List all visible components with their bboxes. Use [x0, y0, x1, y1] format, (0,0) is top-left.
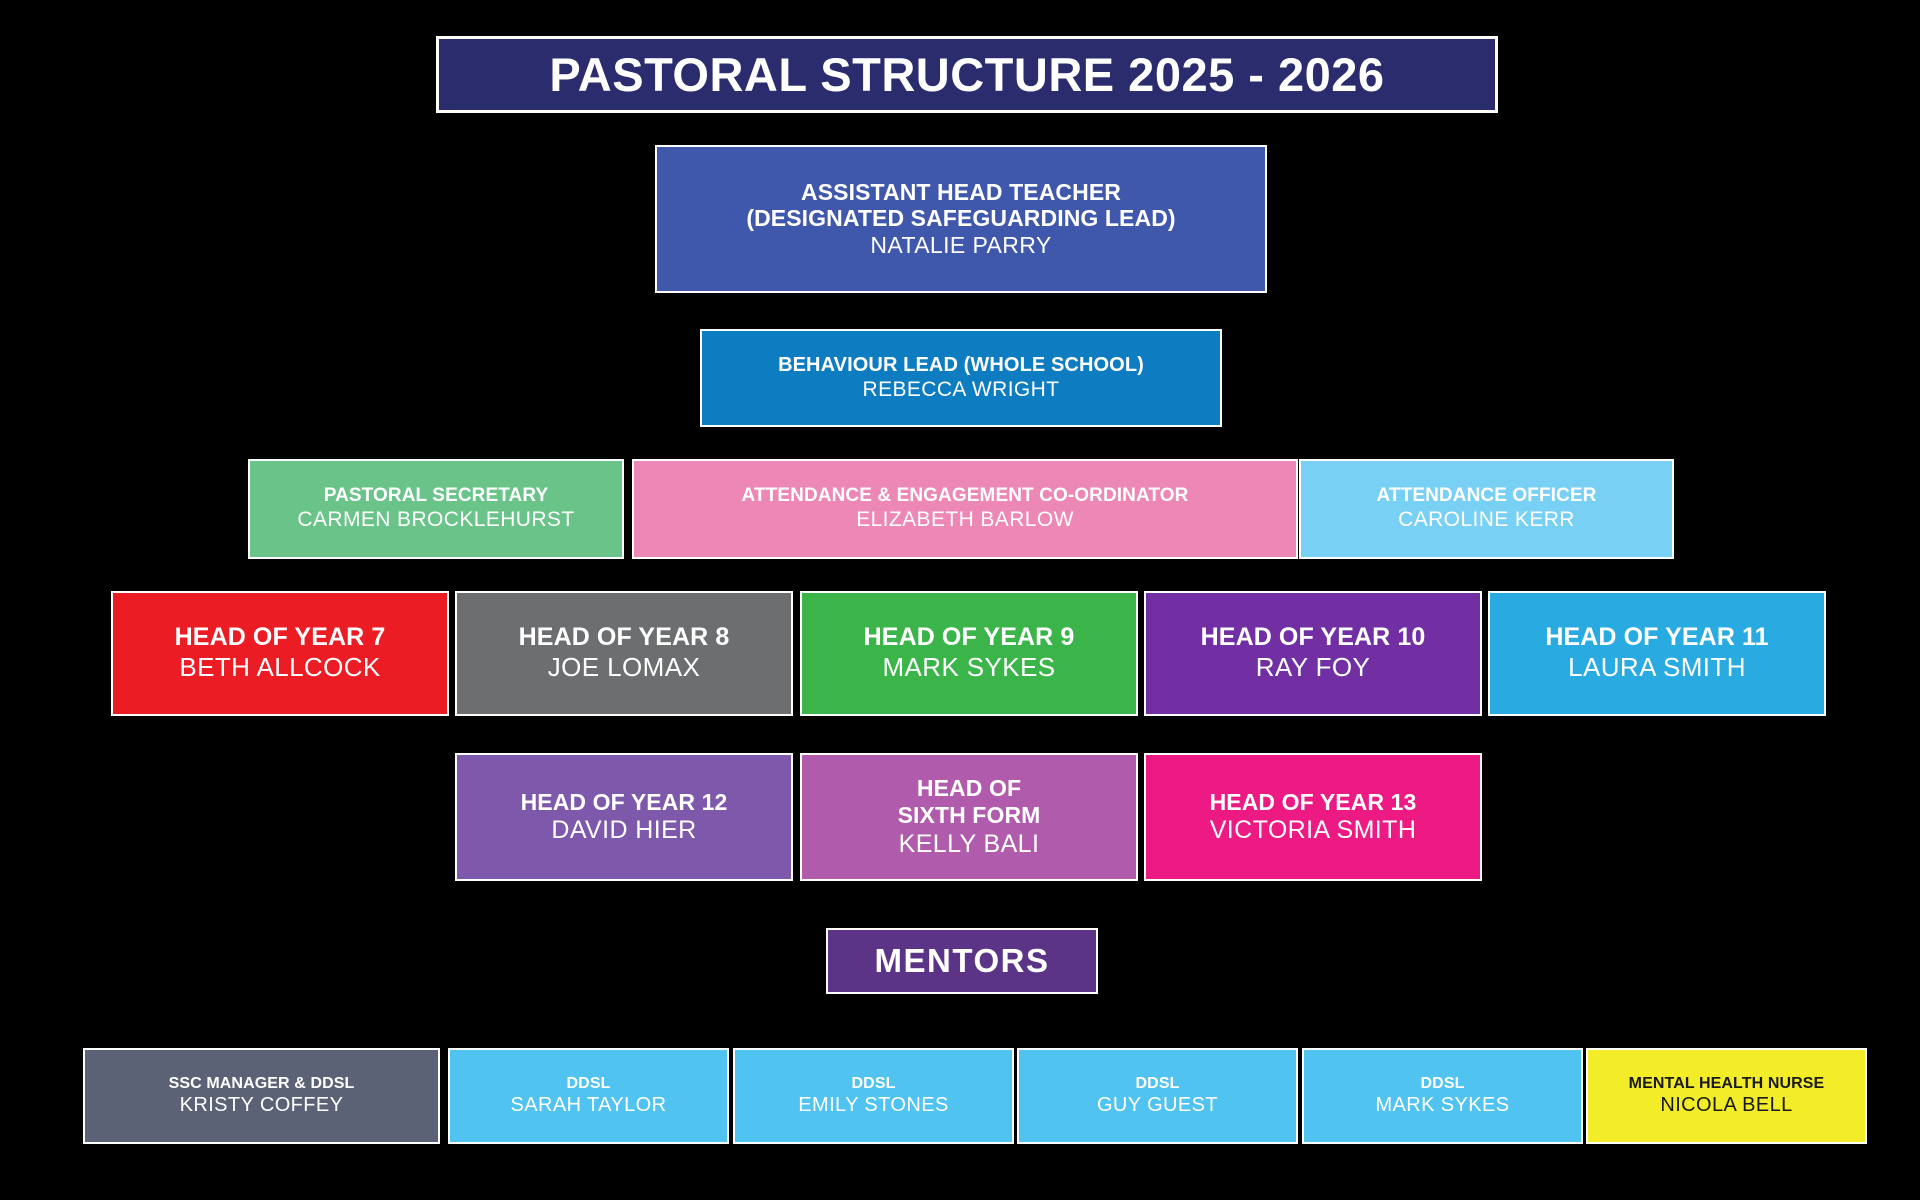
node-mental-health-nurse[interactable]: MENTAL HEALTH NURSE NICOLA BELL	[1586, 1048, 1867, 1144]
page-title-text: PASTORAL STRUCTURE 2025 - 2026	[549, 51, 1384, 98]
node-person: SARAH TAYLOR	[511, 1093, 667, 1117]
node-role-line1: MENTAL HEALTH NURSE	[1629, 1075, 1825, 1094]
node-ssc-manager-ddsl[interactable]: SSC MANAGER & DDSL KRISTY COFFEY	[83, 1048, 440, 1144]
mentors-banner: MENTORS	[826, 928, 1098, 994]
node-person: MARK SYKES	[1375, 1093, 1509, 1117]
page-title: PASTORAL STRUCTURE 2025 - 2026	[436, 36, 1498, 113]
node-role-line1: HEAD OF YEAR 8	[519, 623, 730, 652]
node-head-of-year-11[interactable]: HEAD OF YEAR 11 LAURA SMITH	[1488, 591, 1826, 716]
node-assistant-head-teacher[interactable]: ASSISTANT HEAD TEACHER (DESIGNATED SAFEG…	[655, 145, 1267, 293]
node-role-line1: HEAD OF YEAR 10	[1201, 623, 1426, 652]
node-pastoral-secretary[interactable]: PASTORAL SECRETARY CARMEN BROCKLEHURST	[248, 459, 624, 559]
node-head-of-year-12[interactable]: HEAD OF YEAR 12 DAVID HIER	[455, 753, 793, 881]
node-person: LAURA SMITH	[1568, 652, 1746, 683]
node-role-line1: PASTORAL SECRETARY	[324, 485, 549, 507]
node-role-line2: (DESIGNATED SAFEGUARDING LEAD)	[746, 205, 1175, 232]
node-head-of-year-8[interactable]: HEAD OF YEAR 8 JOE LOMAX	[455, 591, 793, 716]
node-person: VICTORIA SMITH	[1210, 815, 1417, 845]
node-role-line1: DDSL	[1421, 1075, 1465, 1094]
node-role-line1: ATTENDANCE OFFICER	[1377, 485, 1597, 507]
node-person: BETH ALLCOCK	[179, 652, 380, 683]
node-ddsl-sarah-taylor[interactable]: DDSL SARAH TAYLOR	[448, 1048, 729, 1144]
node-behaviour-lead[interactable]: BEHAVIOUR LEAD (WHOLE SCHOOL) REBECCA WR…	[700, 329, 1222, 427]
node-person: EMILY STONES	[798, 1093, 948, 1117]
node-head-of-year-7[interactable]: HEAD OF YEAR 7 BETH ALLCOCK	[111, 591, 449, 716]
node-person: NATALIE PARRY	[870, 232, 1051, 260]
node-role-line2: SIXTH FORM	[898, 802, 1041, 829]
mentors-banner-text: MENTORS	[875, 942, 1050, 980]
node-role-line1: HEAD OF YEAR 11	[1545, 623, 1768, 652]
node-person: KRISTY COFFEY	[180, 1093, 344, 1117]
node-person: CARMEN BROCKLEHURST	[297, 507, 574, 532]
node-head-of-year-10[interactable]: HEAD OF YEAR 10 RAY FOY	[1144, 591, 1482, 716]
node-person: KELLY BALI	[899, 829, 1040, 859]
node-person: DAVID HIER	[551, 815, 696, 845]
node-person: RAY FOY	[1256, 652, 1371, 683]
node-head-of-sixth-form[interactable]: HEAD OF SIXTH FORM KELLY BALI	[800, 753, 1138, 881]
node-person: CAROLINE KERR	[1398, 507, 1575, 532]
node-role-line1: HEAD OF YEAR 9	[864, 623, 1075, 652]
node-person: NICOLA BELL	[1660, 1093, 1792, 1117]
node-role-line1: HEAD OF YEAR 13	[1210, 789, 1417, 816]
node-role-line1: DDSL	[1136, 1075, 1180, 1094]
node-head-of-year-13[interactable]: HEAD OF YEAR 13 VICTORIA SMITH	[1144, 753, 1482, 881]
node-role-line1: DDSL	[852, 1075, 896, 1094]
node-person: MARK SYKES	[882, 652, 1055, 683]
node-role-line1: SSC MANAGER & DDSL	[169, 1075, 355, 1094]
node-person: REBECCA WRIGHT	[863, 377, 1060, 402]
node-role-line1: ATTENDANCE & ENGAGEMENT CO-ORDINATOR	[742, 485, 1189, 507]
node-role-line1: DDSL	[567, 1075, 611, 1094]
org-chart-canvas: PASTORAL STRUCTURE 2025 - 2026 ASSISTANT…	[0, 0, 1920, 1200]
node-head-of-year-9[interactable]: HEAD OF YEAR 9 MARK SYKES	[800, 591, 1138, 716]
node-person: JOE LOMAX	[548, 652, 700, 683]
node-ddsl-guy-guest[interactable]: DDSL GUY GUEST	[1017, 1048, 1298, 1144]
node-attendance-officer[interactable]: ATTENDANCE OFFICER CAROLINE KERR	[1299, 459, 1674, 559]
node-role-line1: BEHAVIOUR LEAD (WHOLE SCHOOL)	[778, 354, 1144, 377]
node-role-line1: ASSISTANT HEAD TEACHER	[801, 179, 1121, 206]
node-person: ELIZABETH BARLOW	[856, 507, 1074, 532]
node-role-line1: HEAD OF YEAR 12	[521, 789, 728, 816]
node-ddsl-emily-stones[interactable]: DDSL EMILY STONES	[733, 1048, 1014, 1144]
node-attendance-engagement-coordinator[interactable]: ATTENDANCE & ENGAGEMENT CO-ORDINATOR ELI…	[632, 459, 1298, 559]
node-role-line1: HEAD OF YEAR 7	[175, 623, 386, 652]
node-person: GUY GUEST	[1097, 1093, 1218, 1117]
node-ddsl-mark-sykes[interactable]: DDSL MARK SYKES	[1302, 1048, 1583, 1144]
node-role-line1: HEAD OF	[917, 775, 1021, 802]
